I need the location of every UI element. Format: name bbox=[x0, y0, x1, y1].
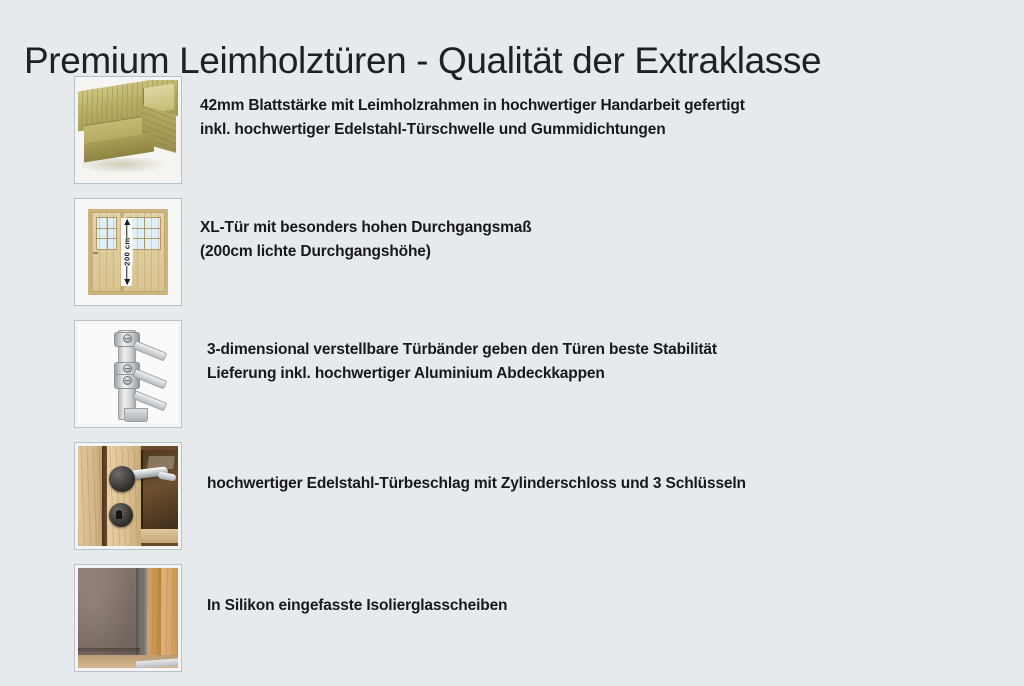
feature-text: 42mm Blattstärke mit Leimholzrahmen in h… bbox=[200, 94, 745, 141]
door-frame-corner-thumbnail bbox=[74, 76, 182, 184]
feature-text-line: hochwertiger Edelstahl-Türbeschlag mit Z… bbox=[207, 472, 746, 496]
feature-text-line: In Silikon eingefasste Isolierglasscheib… bbox=[207, 594, 507, 618]
double-door-dimension-thumbnail: 200 cm bbox=[74, 198, 182, 306]
dimension-arrow: 200 cm bbox=[121, 218, 132, 285]
thumbnail-image bbox=[78, 446, 178, 546]
thumbnail-image bbox=[78, 80, 178, 180]
feature-row: 3-dimensional verstellbare Türbänder geb… bbox=[0, 320, 1024, 442]
feature-row: 42mm Blattstärke mit Leimholzrahmen in h… bbox=[0, 76, 1024, 198]
thumbnail-image bbox=[78, 324, 178, 424]
hinge-illustration bbox=[78, 324, 178, 424]
adjustable-hinge-thumbnail bbox=[74, 320, 182, 428]
feature-text-line: inkl. hochwertiger Edelstahl-Türschwelle… bbox=[200, 118, 745, 142]
dimension-label: 200 cm bbox=[121, 238, 132, 266]
double-door-illustration: 200 cm bbox=[78, 202, 178, 302]
thumbnail-image bbox=[78, 568, 178, 668]
feature-row: 200 cm XL-Tür mit besonders hohen Durchg… bbox=[0, 198, 1024, 320]
feature-text-line: XL-Tür mit besonders hohen Durchgangsmaß bbox=[200, 216, 532, 240]
feature-text-line: 3-dimensional verstellbare Türbänder geb… bbox=[207, 338, 717, 362]
insulating-glass-illustration bbox=[78, 568, 178, 668]
timber-frame-corner-illustration bbox=[78, 80, 178, 180]
thumbnail-image: 200 cm bbox=[78, 202, 178, 302]
feature-text-line: 42mm Blattstärke mit Leimholzrahmen in h… bbox=[200, 94, 745, 118]
feature-text: XL-Tür mit besonders hohen Durchgangsmaß… bbox=[200, 216, 532, 263]
feature-text: In Silikon eingefasste Isolierglasscheib… bbox=[207, 594, 507, 618]
feature-text-line: (200cm lichte Durchgangshöhe) bbox=[200, 240, 532, 264]
feature-row: In Silikon eingefasste Isolierglasscheib… bbox=[0, 564, 1024, 686]
handle-and-lock-illustration bbox=[78, 446, 178, 546]
feature-text: 3-dimensional verstellbare Türbänder geb… bbox=[207, 338, 717, 385]
feature-list: 42mm Blattstärke mit Leimholzrahmen in h… bbox=[0, 76, 1024, 686]
feature-text-line: Lieferung inkl. hochwertiger Aluminium A… bbox=[207, 362, 717, 386]
door-handle-lock-thumbnail bbox=[74, 442, 182, 550]
feature-row: hochwertiger Edelstahl-Türbeschlag mit Z… bbox=[0, 442, 1024, 564]
feature-text: hochwertiger Edelstahl-Türbeschlag mit Z… bbox=[207, 472, 746, 496]
insulating-glass-thumbnail bbox=[74, 564, 182, 672]
